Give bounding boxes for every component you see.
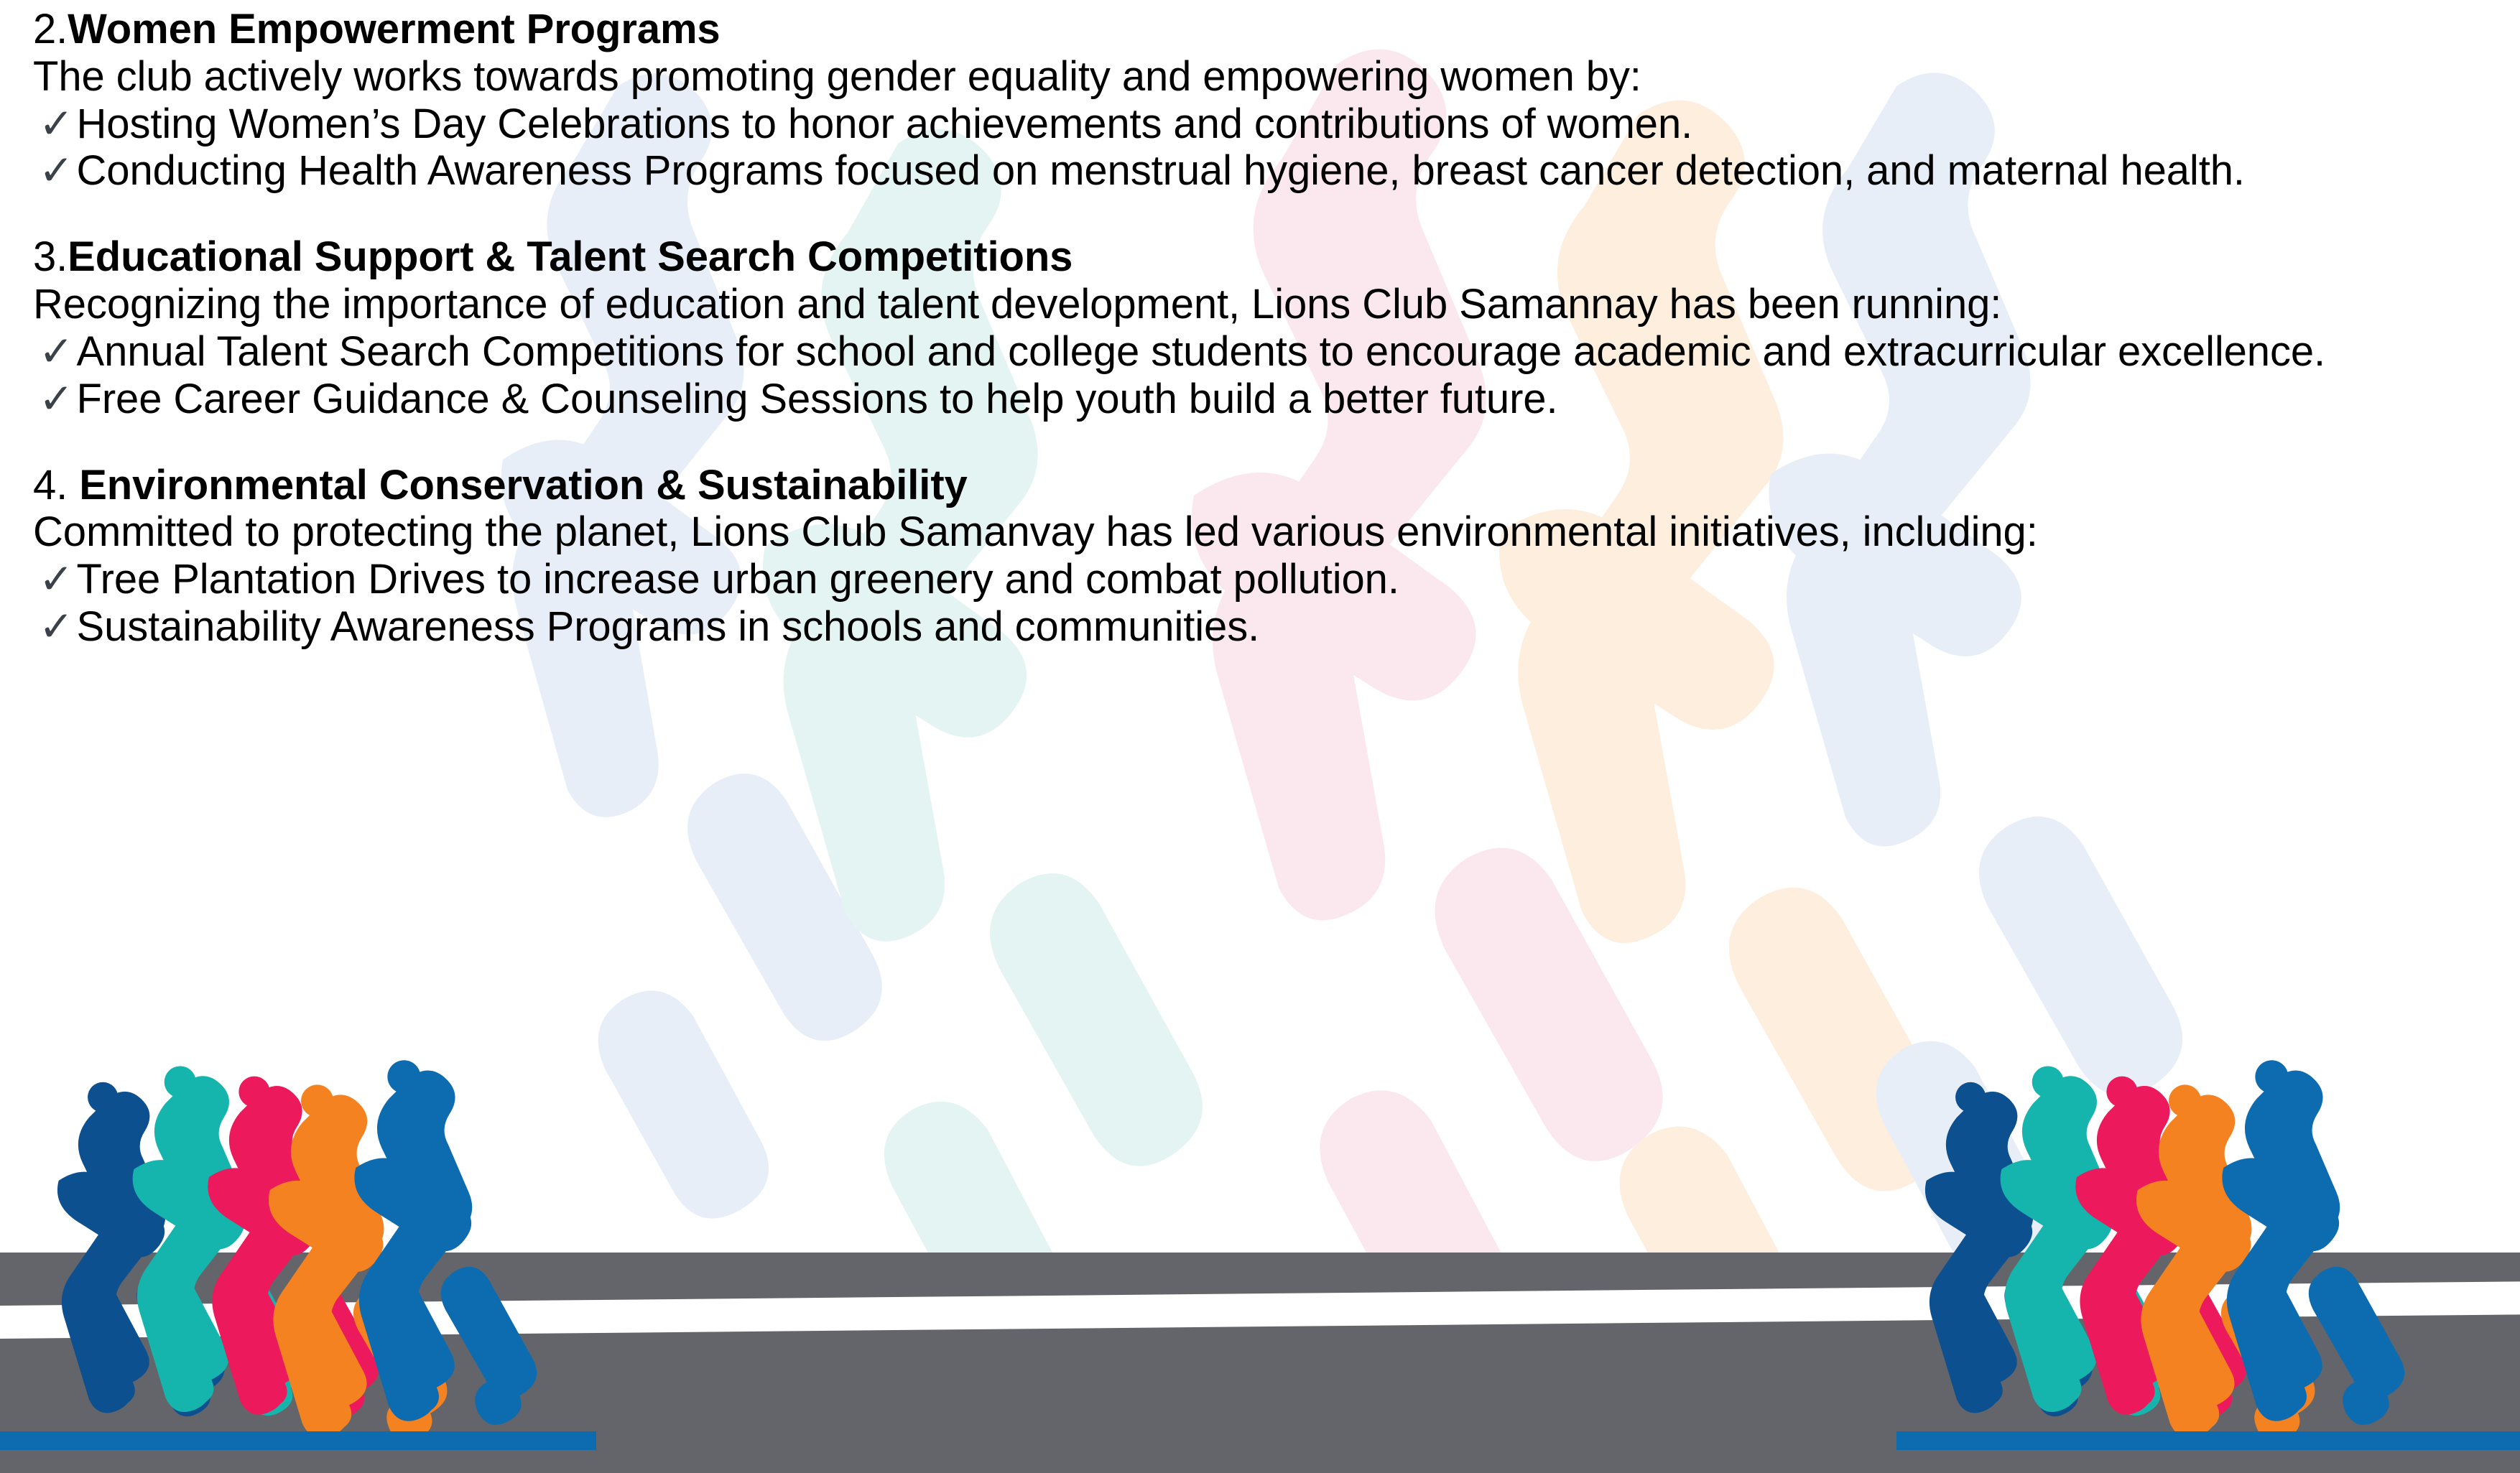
bullet-text: Hosting Women’s Day Celebrations to hono… <box>77 101 1693 147</box>
content-text-block: 2.Women Empowerment Programs The club ac… <box>33 6 2447 651</box>
section-heading-2: 2.Women Empowerment Programs <box>33 6 2447 53</box>
section-number-4: 4. <box>33 462 79 508</box>
section-title-4: Environmental Conservation & Sustainabil… <box>79 462 968 508</box>
bullet-text: Free Career Guidance & Counseling Sessio… <box>77 376 1558 422</box>
check-icon: ✓ <box>33 556 77 603</box>
section-number-2: 2. <box>33 6 68 52</box>
check-icon: ✓ <box>33 328 77 375</box>
runner-group-right <box>1875 1057 2450 1459</box>
check-icon: ✓ <box>33 603 77 650</box>
check-icon: ✓ <box>33 147 77 194</box>
section-title-2: Women Empowerment Programs <box>68 6 720 52</box>
slide-canvas: 2.Women Empowerment Programs The club ac… <box>0 0 2520 1473</box>
section-heading-4: 4. Environmental Conservation & Sustaina… <box>33 462 2447 509</box>
section-bullet-2-2: ✓Conducting Health Awareness Programs fo… <box>33 147 2447 195</box>
check-icon: ✓ <box>33 101 77 147</box>
section-heading-3: 3.Educational Support & Talent Search Co… <box>33 233 2447 281</box>
bullet-text: Annual Talent Search Competitions for sc… <box>77 328 2326 375</box>
section-number-3: 3. <box>33 233 68 280</box>
check-icon: ✓ <box>33 376 77 422</box>
section-bullet-4-1: ✓Tree Plantation Drives to increase urba… <box>33 556 2447 603</box>
finish-line-bar-left <box>0 1431 596 1450</box>
bullet-text: Conducting Health Awareness Programs foc… <box>77 147 2245 194</box>
bullet-text: Tree Plantation Drives to increase urban… <box>77 556 1399 603</box>
section-intro-2: The club actively works towards promotin… <box>33 53 2447 101</box>
section-bullet-2-1: ✓Hosting Women’s Day Celebrations to hon… <box>33 101 2447 148</box>
section-bullet-3-2: ✓Free Career Guidance & Counseling Sessi… <box>33 376 2447 423</box>
bullet-text: Sustainability Awareness Programs in sch… <box>77 603 1260 650</box>
section-title-3: Educational Support & Talent Search Comp… <box>68 233 1073 280</box>
section-intro-3: Recognizing the importance of education … <box>33 281 2447 328</box>
section-bullet-3-1: ✓Annual Talent Search Competitions for s… <box>33 328 2447 376</box>
runner-group-left <box>7 1057 582 1459</box>
section-bullet-4-2: ✓Sustainability Awareness Programs in sc… <box>33 603 2447 651</box>
section-intro-4: Committed to protecting the planet, Lion… <box>33 508 2447 556</box>
finish-line-bar-right <box>1896 1431 2520 1450</box>
